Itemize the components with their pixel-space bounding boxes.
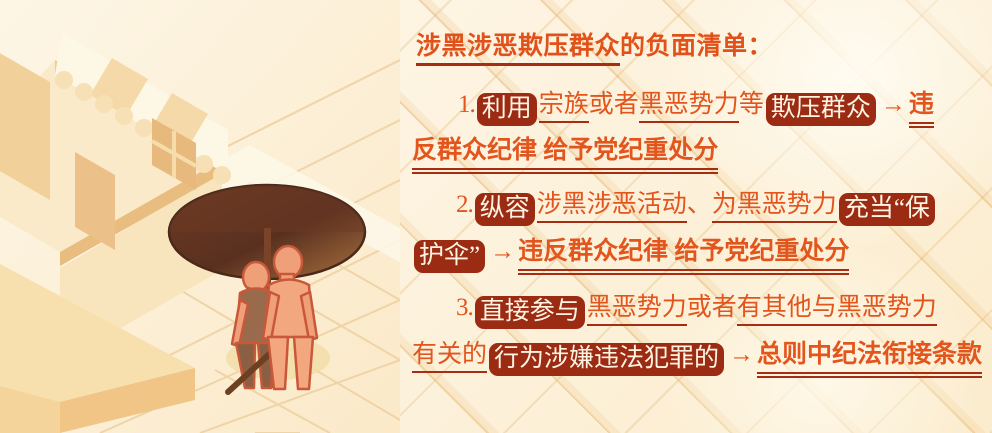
consequence-text: 反群众纪律 给予党纪重处分 (412, 137, 718, 170)
page-title: 涉黑涉恶欺压群众的负面清单： (416, 26, 773, 62)
badge-chip: 纵容 (475, 193, 535, 226)
plain-phrase: 或者 (687, 294, 737, 321)
arrow-icon: → (878, 91, 909, 118)
plain-phrase: 等 (739, 91, 764, 118)
consequence-text: 违 (909, 91, 934, 124)
negative-list-text-panel: 涉黑涉恶欺压群众的负面清单： 1.利用宗族或者黑恶势力等欺压群众→违 反群众纪律… (398, 0, 992, 433)
badge-chip: 充当“保 (839, 193, 935, 226)
underlined-phrase: 宗族 (539, 91, 589, 123)
list-item-line: 1.利用宗族或者黑恶势力等欺压群众→违 (458, 92, 934, 126)
list-item-line: 2.纵容涉黑涉恶活动、为黑恶势力充当“保 (456, 192, 937, 226)
underlined-phrase: 为黑恶势力 (712, 191, 837, 223)
list-item: 1.利用宗族或者黑恶势力等欺压群众→违 反群众纪律 给予党纪重处分 (398, 92, 992, 180)
underlined-phrase: 黑恶势力 (639, 91, 739, 123)
plain-phrase: 或者 (589, 91, 639, 118)
underlined-phrase: 有关的 (412, 341, 487, 373)
underlined-phrase: 黑恶势力 (587, 294, 687, 326)
consequence-text: 总则中纪法衔接条款 (757, 341, 982, 374)
list-item-line: 反群众纪律 给予党纪重处分 (412, 138, 718, 163)
list-item-number: 2. (456, 191, 473, 218)
underlined-phrase: 涉黑涉恶活动 (537, 191, 687, 223)
infographic-canvas: 涉黑涉恶欺压群众的负面清单： 1.利用宗族或者黑恶势力等欺压群众→违 反群众纪律… (0, 0, 992, 433)
list-item-number: 3. (456, 294, 473, 321)
page-title-rest: 的负面清单： (620, 33, 773, 60)
badge-chip: 直接参与 (475, 296, 585, 329)
list-item: 2.纵容涉黑涉恶活动、为黑恶势力充当“保 护伞”→违反群众纪律 给予党纪重处分 (398, 192, 992, 284)
list-item-line: 有关的行为涉嫌违法犯罪的→总则中纪法衔接条款 (412, 342, 982, 376)
isometric-street-illustration (0, 0, 400, 433)
plain-phrase: 、 (687, 191, 712, 218)
arrow-icon: → (487, 238, 518, 265)
list-item-number: 1. (458, 91, 475, 118)
arrow-icon: → (726, 341, 757, 368)
badge-chip: 行为涉嫌违法犯罪的 (489, 343, 724, 376)
page-title-highlight: 涉黑涉恶欺压群众 (416, 33, 620, 66)
list-item-line: 3.直接参与黑恶势力或者有其他与黑恶势力 (456, 295, 937, 329)
underlined-phrase: 有其他与黑恶势力 (737, 294, 937, 326)
list-item-line: 护伞”→违反群众纪律 给予党纪重处分 (412, 239, 849, 273)
badge-chip: 欺压群众 (766, 93, 876, 126)
badge-chip: 利用 (477, 93, 537, 126)
list-item: 3.直接参与黑恶势力或者有其他与黑恶势力 有关的行为涉嫌违法犯罪的→总则中纪法衔… (398, 295, 992, 387)
badge-chip: 护伞” (414, 240, 485, 273)
consequence-text: 违反群众纪律 给予党纪重处分 (518, 238, 849, 271)
